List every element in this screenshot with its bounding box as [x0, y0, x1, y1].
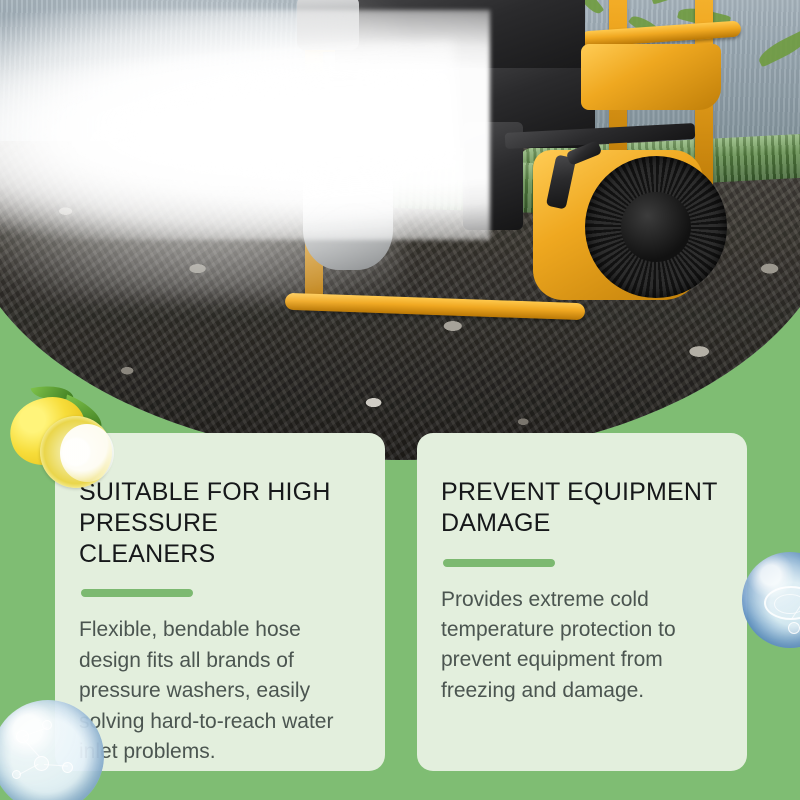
card-body-text: Flexible, bendable hose design fits all …	[79, 615, 359, 767]
card-title: SUITABLE FOR HIGH PRESSURE CLEANERS	[79, 477, 359, 569]
molecule-node	[788, 622, 800, 634]
card-prevent-equipment-damage[interactable]: PREVENT EQUIPMENT DAMAGE Provides extrem…	[417, 433, 747, 771]
card-accent-rule	[443, 559, 555, 567]
water-jet-secondary	[0, 41, 466, 270]
water-bubble-left	[0, 700, 104, 800]
water-bubble-right	[742, 552, 800, 648]
card-body-text: Provides extreme cold temperature protec…	[441, 585, 721, 707]
feature-card-list: SUITABLE FOR HIGH PRESSURE CLEANERS Flex…	[55, 433, 747, 771]
lemon-slice-highlight	[60, 424, 114, 482]
banner-stage: SUITABLE FOR HIGH PRESSURE CLEANERS Flex…	[0, 0, 800, 800]
card-title: PREVENT EQUIPMENT DAMAGE	[441, 477, 721, 539]
lemon-decoration	[4, 384, 116, 488]
pump-tank-body	[581, 44, 721, 110]
hero-image-frame	[0, 0, 800, 460]
molecule-node	[62, 762, 73, 773]
water-pump-photo	[0, 0, 800, 460]
water-sphere	[0, 700, 104, 800]
card-accent-rule	[81, 589, 193, 597]
pump-recoil-hub	[621, 192, 691, 262]
